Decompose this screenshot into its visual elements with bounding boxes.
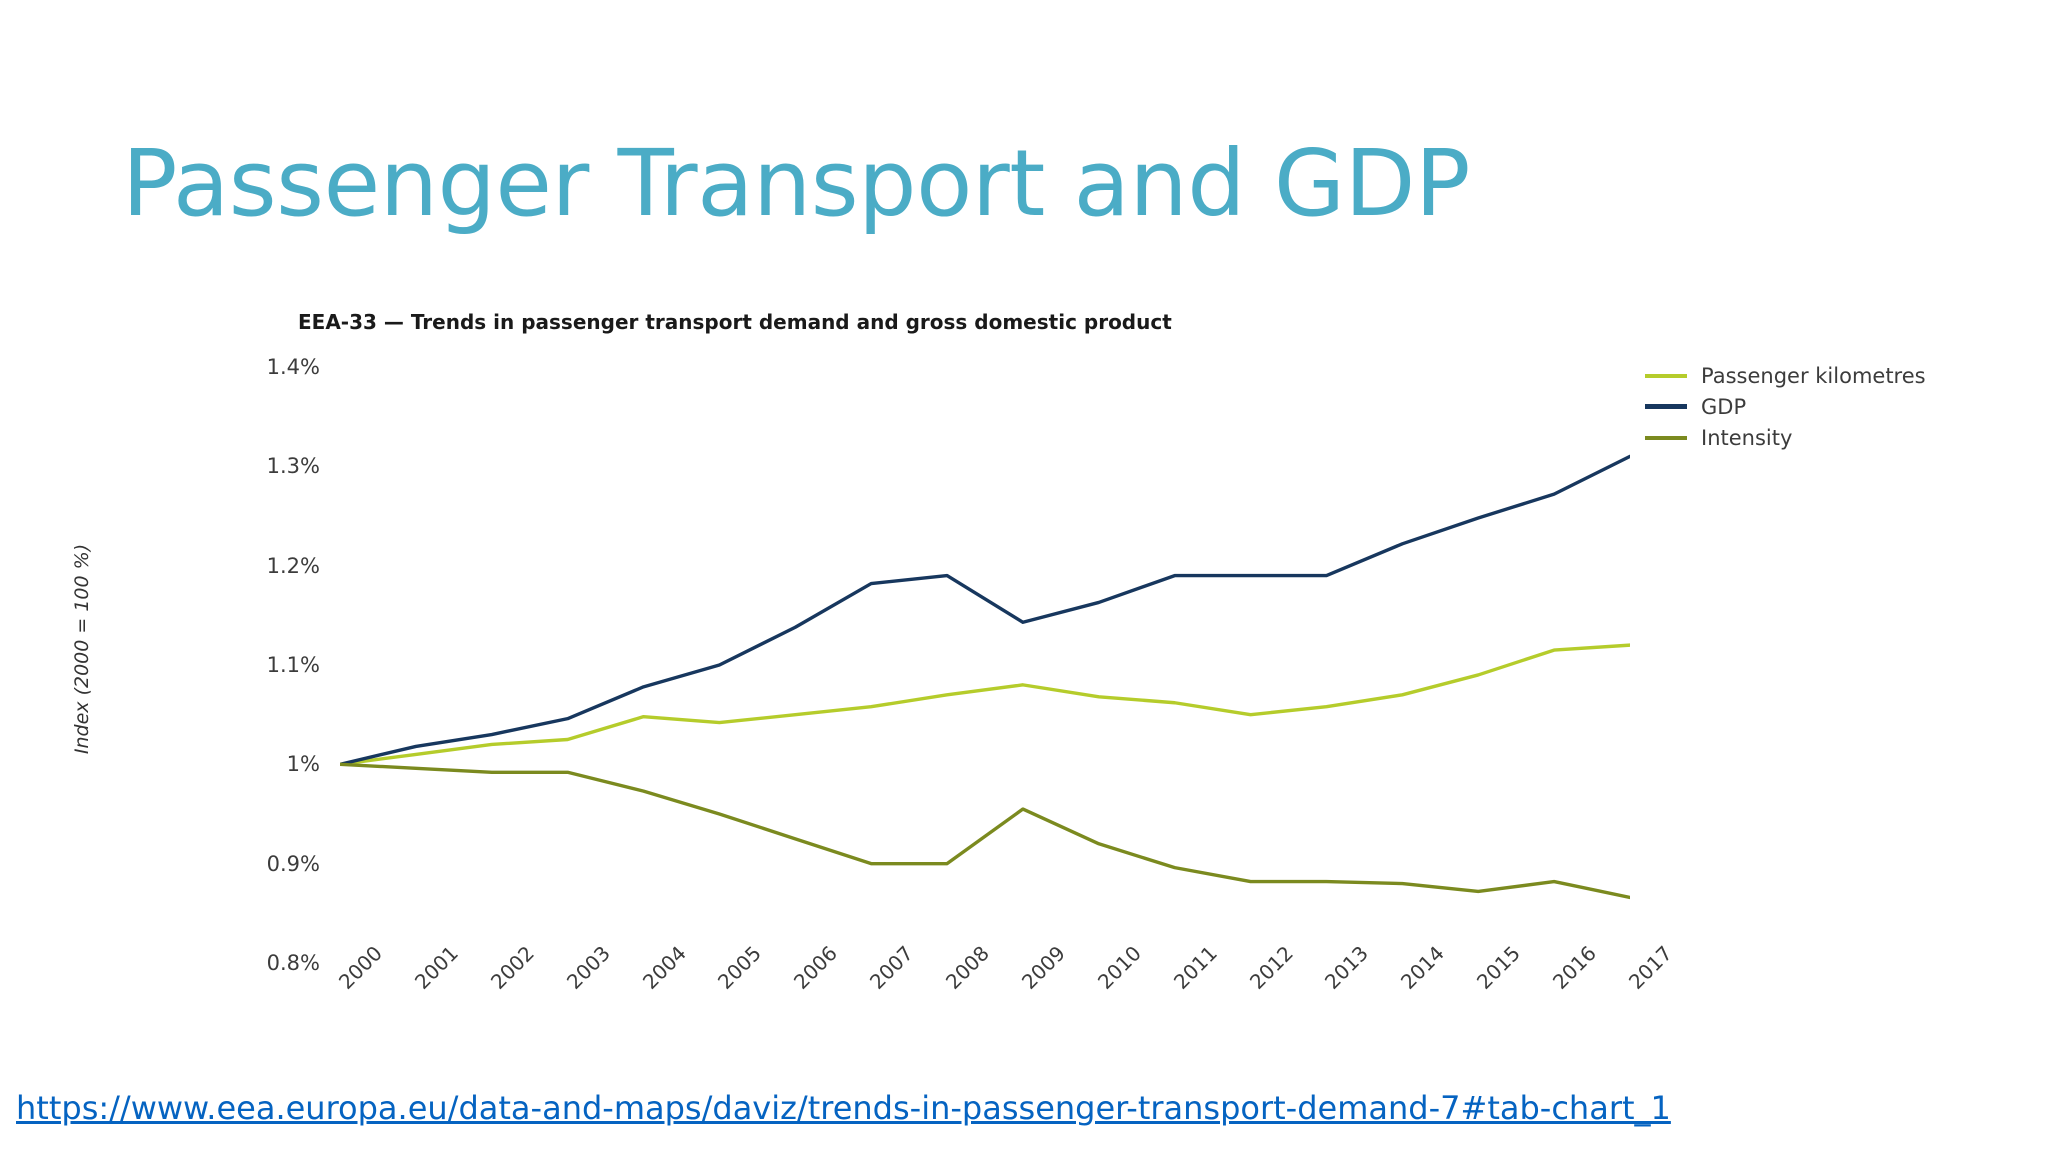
x-axis-tick-label: 2017 — [1624, 941, 1677, 994]
y-axis-tick-label: 0.9% — [220, 852, 320, 876]
series-line — [340, 645, 1630, 764]
legend-item[interactable]: Passenger kilometres — [1645, 360, 1975, 391]
y-axis-tick-label: 1.4% — [220, 355, 320, 379]
legend-item-label: Passenger kilometres — [1701, 364, 1926, 388]
plot-area — [340, 367, 1630, 963]
y-axis-tick-labels: 1.4%1.3%1.2%1.1%1%0.9%0.8% — [210, 367, 320, 963]
x-axis-tick-labels: 2000200120022003200420052006200720082009… — [340, 963, 1630, 1083]
y-axis-tick-label: 1.2% — [220, 554, 320, 578]
y-axis-tick-label: 1.3% — [220, 454, 320, 478]
source-url-link[interactable]: https://www.eea.europa.eu/data-and-maps/… — [16, 1089, 1671, 1127]
series-line — [340, 764, 1630, 897]
legend-color-swatch — [1645, 374, 1687, 378]
chart-lines — [340, 367, 1630, 963]
chart-legend: Passenger kilometresGDPIntensity — [1645, 360, 1975, 453]
legend-item-label: Intensity — [1701, 426, 1792, 450]
y-axis-tick-label: 0.8% — [220, 951, 320, 975]
page-title: Passenger Transport and GDP — [122, 138, 1470, 230]
legend-color-swatch — [1645, 436, 1687, 440]
chart-figure: EEA-33 — Trends in passenger transport d… — [0, 300, 2048, 1060]
legend-item-label: GDP — [1701, 395, 1746, 419]
legend-item[interactable]: GDP — [1645, 391, 1975, 422]
legend-color-swatch — [1645, 404, 1687, 409]
y-axis-title: Index (2000 = 100 %) — [71, 519, 93, 779]
y-axis-tick-label: 1% — [220, 752, 320, 776]
y-axis-tick-label: 1.1% — [220, 653, 320, 677]
chart-title: EEA-33 — Trends in passenger transport d… — [298, 310, 1172, 334]
series-line — [340, 456, 1630, 764]
legend-item[interactable]: Intensity — [1645, 422, 1975, 453]
